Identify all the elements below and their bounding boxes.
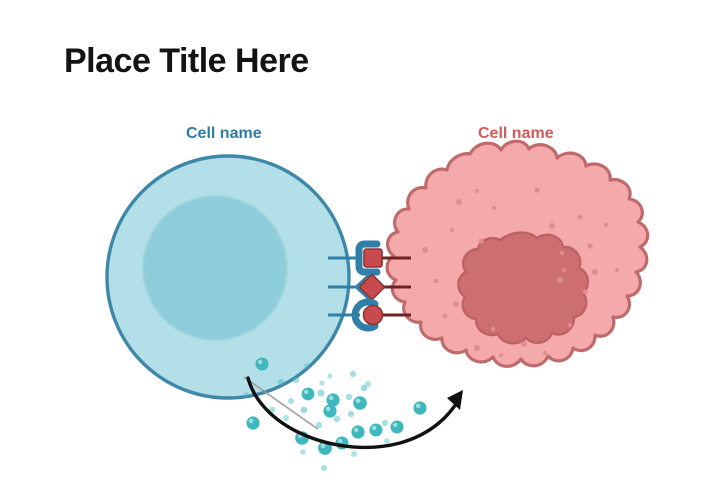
signal-molecule-dot (361, 385, 368, 392)
ligand-diamond-icon (359, 274, 384, 299)
signal-molecule-highlight (338, 439, 342, 443)
signal-molecule-highlight (416, 404, 420, 408)
signal-molecule-dot (350, 371, 356, 377)
signal-molecule-dot (256, 358, 269, 371)
signal-molecule-dot (391, 421, 404, 434)
left-cell[interactable] (107, 156, 349, 398)
signal-molecule-dot (351, 451, 357, 457)
signal-molecule-highlight (329, 396, 333, 400)
signal-molecule-dot (353, 396, 367, 410)
signal-molecule-dot (323, 404, 336, 417)
signal-molecule-highlight (258, 360, 262, 364)
signal-molecule-highlight (354, 428, 358, 432)
signal-molecule-highlight (249, 419, 253, 423)
signal-molecule-dot (334, 416, 340, 422)
slide-canvas: Place Title Here Cell name Cell name (0, 0, 720, 504)
left-cell-nucleus (143, 196, 287, 340)
signal-molecule-dot (321, 465, 327, 471)
signal-molecule-dot (317, 389, 324, 396)
signal-molecule-dot (384, 438, 390, 444)
ligand-square-icon (364, 249, 382, 267)
signal-molecule-dot (346, 394, 352, 400)
signal-molecule-highlight (372, 426, 376, 430)
signal-molecule-dot (319, 380, 324, 385)
signal-molecule-highlight (304, 390, 308, 394)
signal-molecule-dot (327, 373, 332, 378)
signal-molecule-dot (244, 393, 249, 398)
signal-molecule-dot (246, 416, 259, 429)
signal-molecule-highlight (356, 399, 361, 404)
signal-molecule-highlight (393, 423, 397, 427)
signal-molecule-dot (382, 420, 388, 426)
signal-molecule-dot (304, 363, 310, 369)
signal-molecule-highlight (321, 443, 326, 448)
right-cell-nucleus (458, 233, 588, 344)
signal-molecule-dot (300, 449, 306, 455)
signal-molecule-highlight (326, 407, 330, 411)
signal-molecule-dot (288, 398, 294, 404)
signal-molecule-dot (351, 425, 364, 438)
signal-molecule-dot (370, 424, 383, 437)
signal-molecule-dot (302, 388, 315, 401)
signal-molecule-dot (316, 422, 322, 428)
signal-molecule-dot (283, 415, 289, 421)
cell-signaling-diagram (0, 0, 720, 504)
signal-molecule-dot (413, 401, 426, 414)
right-cell[interactable] (387, 141, 648, 366)
signal-molecule-dot (301, 407, 308, 414)
ligand-circle-icon (364, 306, 383, 325)
signal-molecule-dot (293, 377, 300, 384)
signal-molecule-dot (348, 411, 354, 417)
signal-molecule-dot (278, 379, 284, 385)
